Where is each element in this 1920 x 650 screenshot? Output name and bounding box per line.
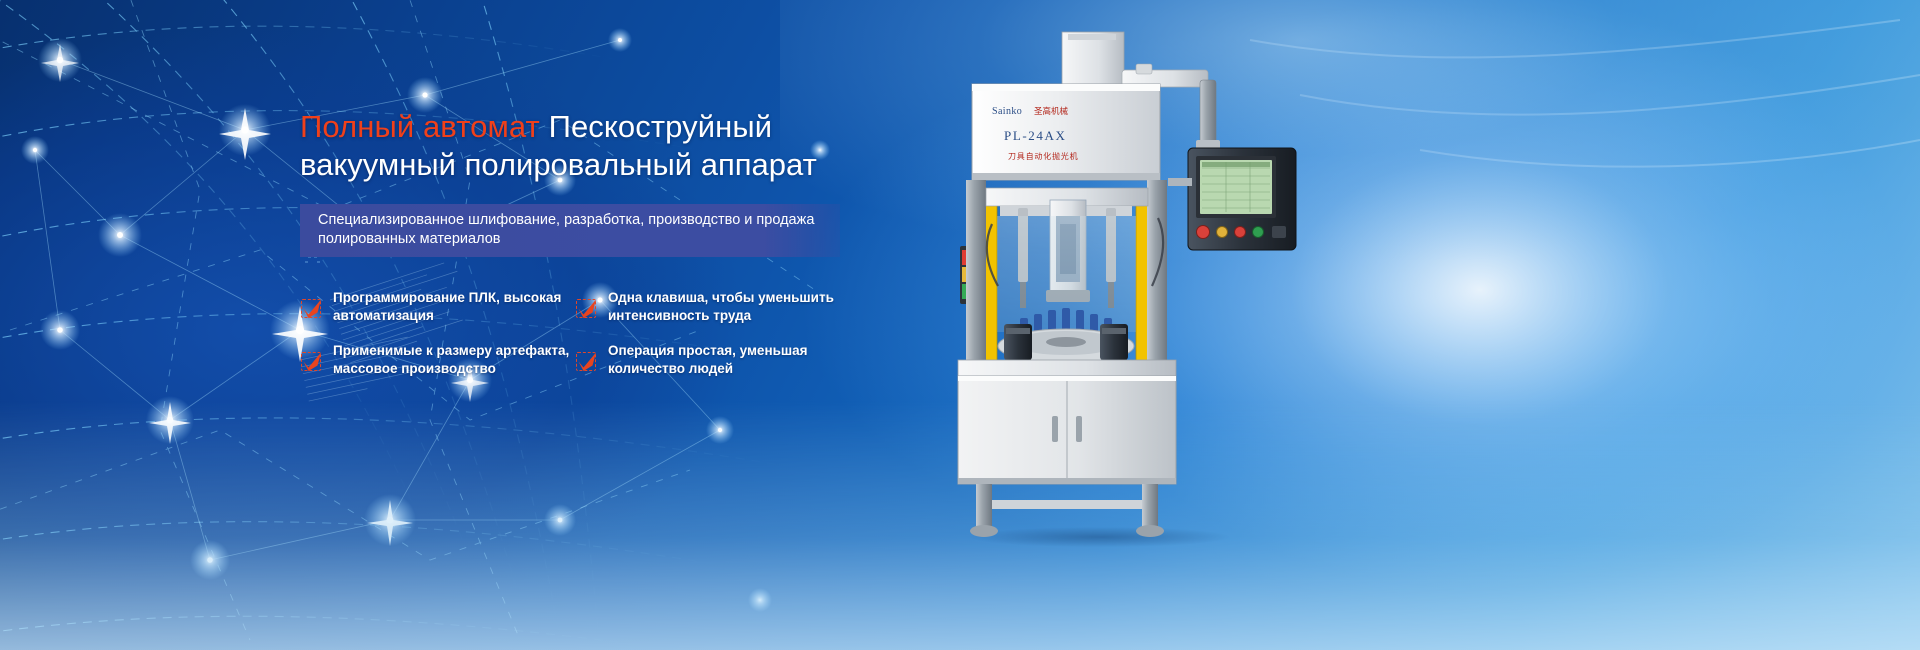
feature-label-2: Одна клавиша, чтобы уменьшить интенсивно…	[608, 289, 850, 324]
svg-text:Sainko: Sainko	[992, 106, 1022, 117]
checkbox-checked-icon	[300, 350, 324, 373]
feature-item-3: Применимые к размеру артефакта, массовое…	[300, 342, 575, 377]
page-title: Полный автомат Пескоструйный	[300, 108, 880, 146]
feature-list: Программирование ПЛК, высокая автоматиза…	[300, 289, 860, 377]
checkbox-checked-icon	[300, 297, 324, 320]
status-button-red	[1235, 227, 1246, 238]
hero-banner: Полный автомат Пескоструйный вакуумный п…	[0, 0, 1920, 650]
subtitle-bar: Специализированное шлифование, разработк…	[300, 204, 840, 257]
hero-copy: Полный автомат Пескоструйный вакуумный п…	[300, 108, 880, 377]
feature-item-2: Одна клавиша, чтобы уменьшить интенсивно…	[575, 289, 850, 324]
title-rest: Пескоструйный	[540, 109, 772, 144]
checkbox-checked-icon	[575, 297, 599, 320]
machine-leg-left	[976, 484, 992, 528]
status-button-green	[1253, 227, 1264, 238]
cabinet-handle-left	[1052, 416, 1058, 442]
checkbox-checked-icon	[575, 350, 599, 373]
emergency-stop-button	[1197, 226, 1210, 239]
page-title-line2: вакуумный полировальный аппарат	[300, 146, 880, 184]
status-button-amber	[1217, 227, 1228, 238]
svg-text:PL-24AX: PL-24AX	[1004, 128, 1066, 143]
feature-label-4: Операция простая, уменьшая количество лю…	[608, 342, 850, 377]
subtitle-text: Специализированное шлифование, разработк…	[318, 211, 826, 249]
machine-leg-right	[1142, 484, 1158, 528]
title-highlight: Полный автомат	[300, 109, 540, 144]
cabinet-handle-right	[1076, 416, 1082, 442]
feature-label-1: Программирование ПЛК, высокая автоматиза…	[333, 289, 575, 324]
feature-item-4: Операция простая, уменьшая количество лю…	[575, 342, 850, 377]
machine-photo: Sainko 圣高机械 PL-24AX 刀具自动化抛光机	[900, 28, 1320, 548]
feature-item-1: Программирование ПЛК, высокая автоматиза…	[300, 289, 575, 324]
feature-label-3: Применимые к размеру артефакта, массовое…	[333, 342, 575, 377]
svg-text:刀具自动化抛光机: 刀具自动化抛光机	[1008, 151, 1078, 161]
svg-text:圣高机械: 圣高机械	[1034, 106, 1069, 117]
control-panel	[1168, 148, 1296, 250]
